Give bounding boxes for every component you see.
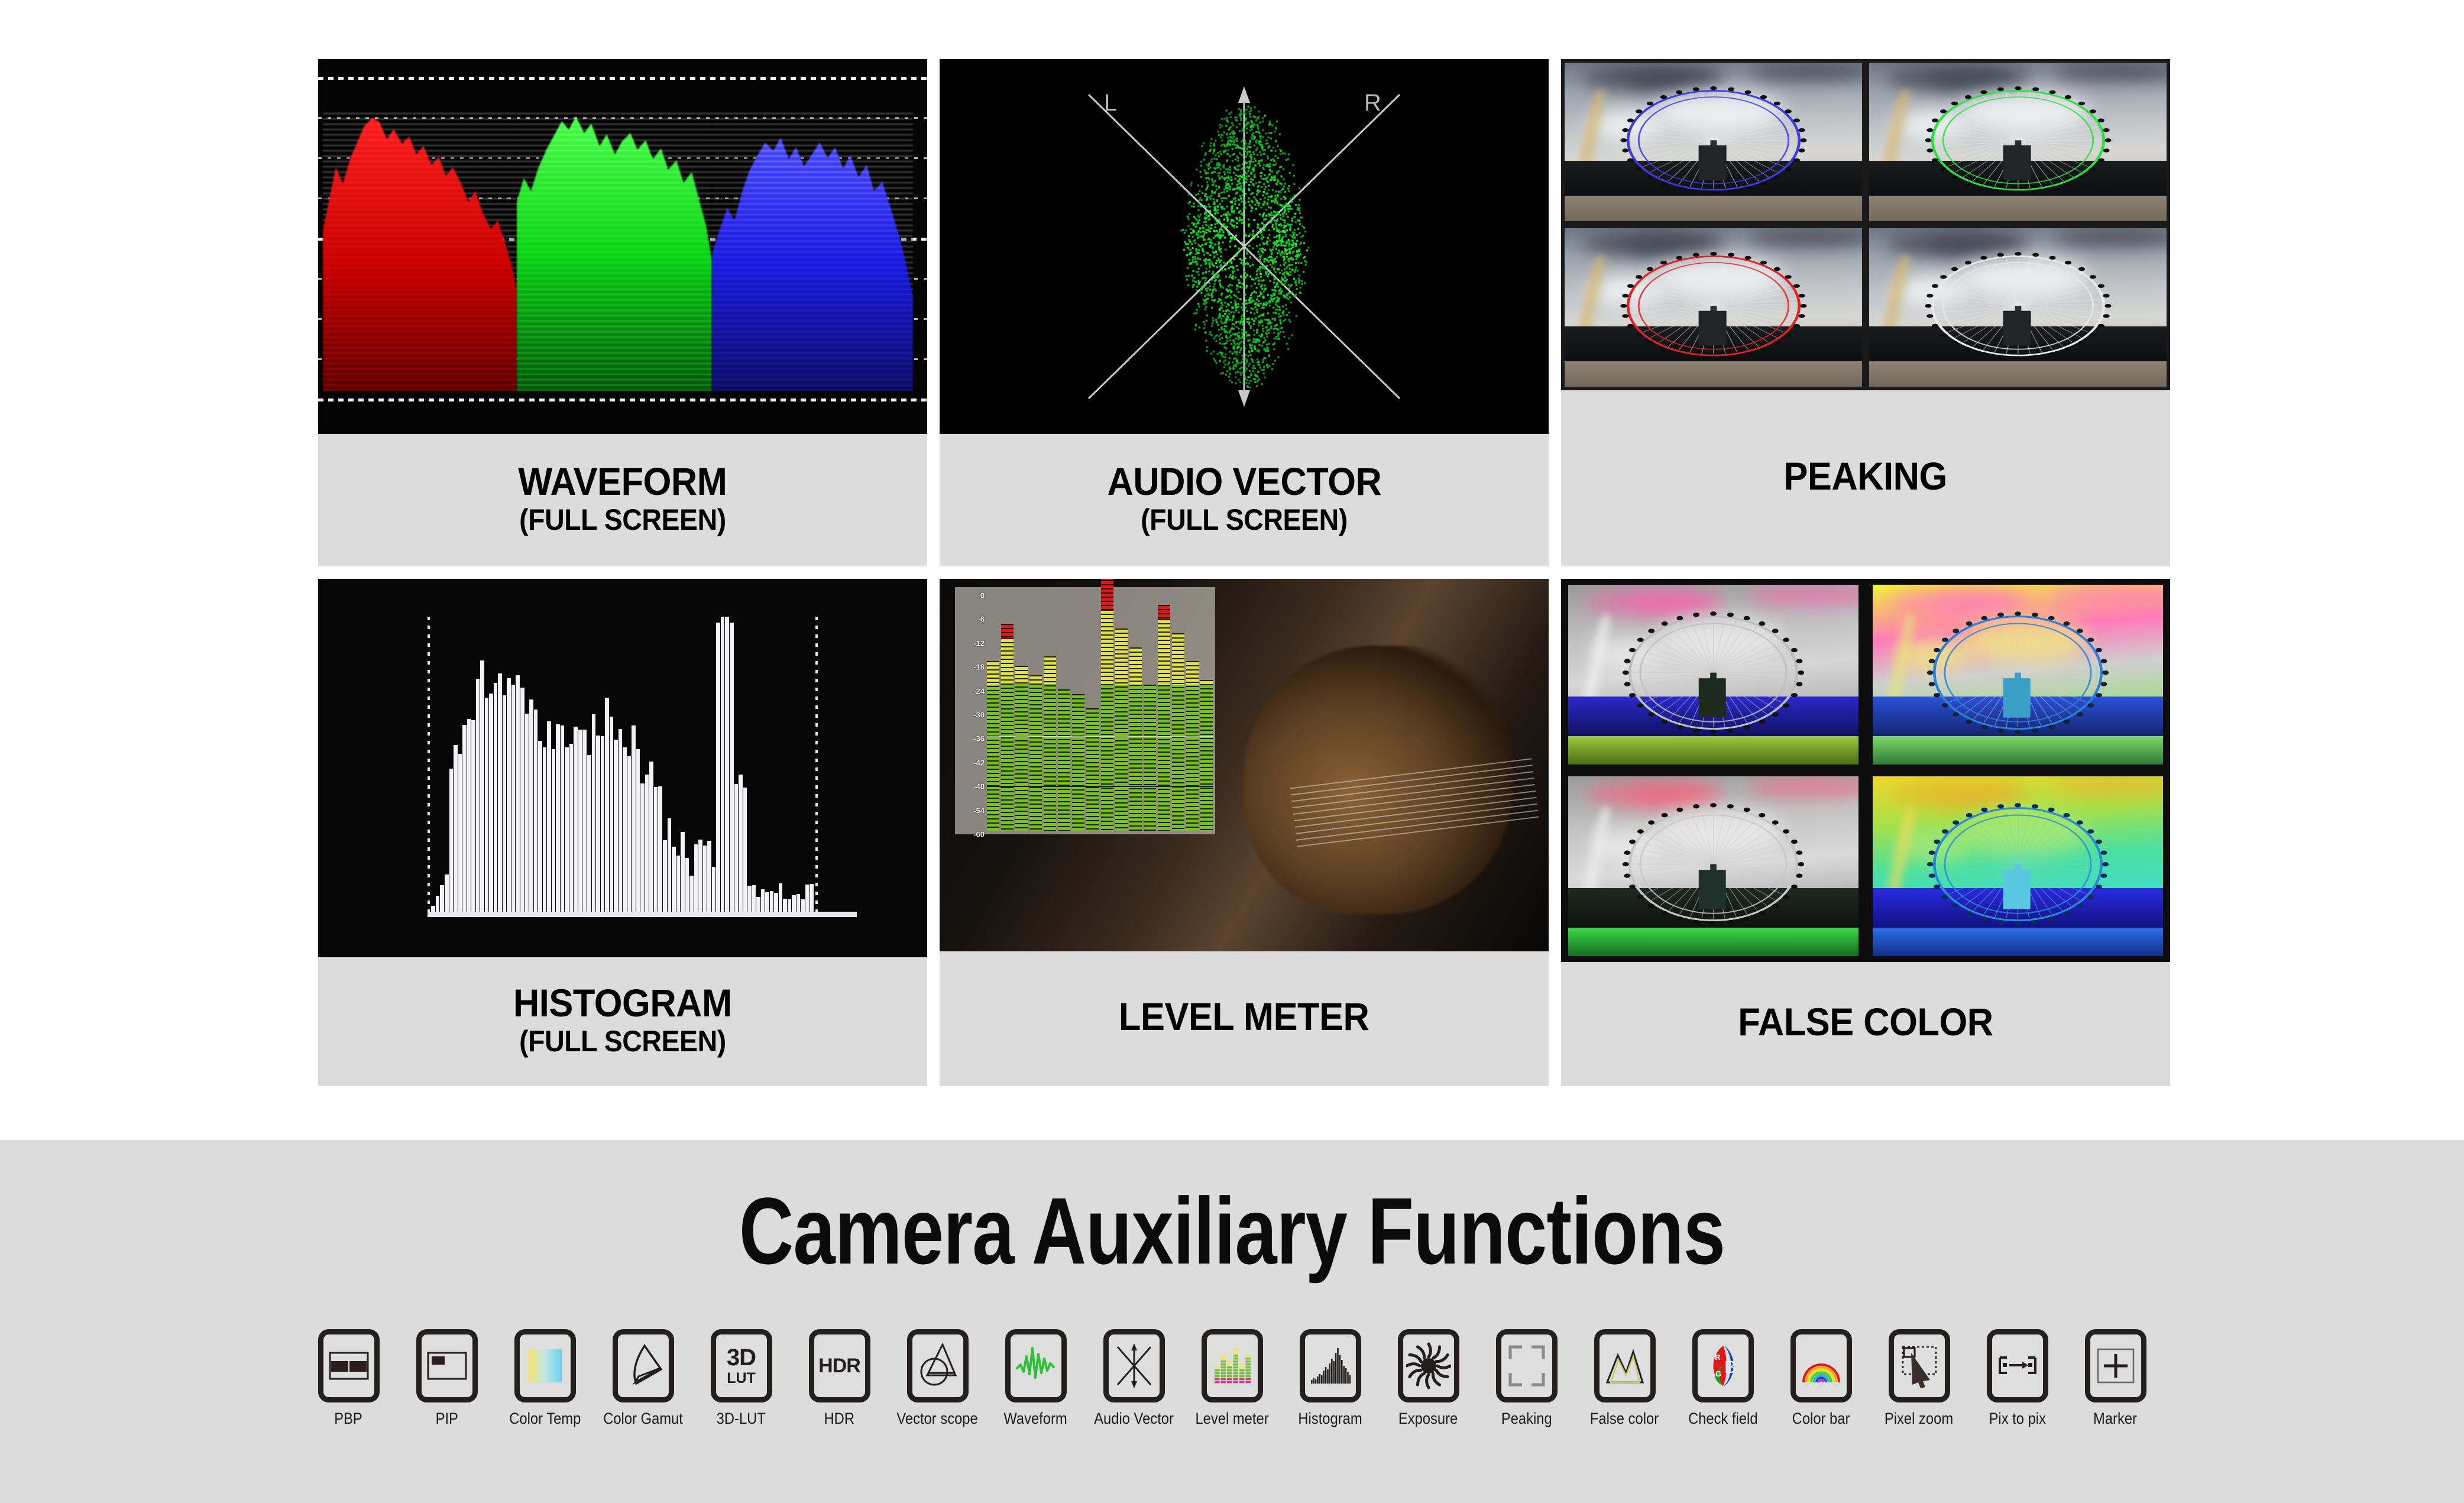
audio-vector-icon[interactable] <box>1103 1329 1165 1402</box>
level-meter-channel <box>1172 595 1184 831</box>
waveform-blue-channel <box>712 113 913 394</box>
function-icon-item-audio-vector[interactable]: Audio Vector <box>1093 1329 1176 1428</box>
audio-vector-subtitle: (FULL SCREEN) <box>1141 505 1348 535</box>
function-icon-label: Pixel zoom <box>1885 1410 1953 1428</box>
waveform-title: WAVEFORM <box>518 462 727 501</box>
level-meter-channel <box>987 595 999 831</box>
level-meter-scale-label: -42 <box>973 758 985 767</box>
level-meter-scale-label: -18 <box>973 663 985 672</box>
three-d-lut-glyph-top: 3D <box>727 1346 756 1369</box>
level-meter-channel <box>1029 595 1042 831</box>
feature-panel-waveform[interactable]: WAVEFORM (FULL SCREEN) <box>318 59 927 566</box>
false-color-quadrant-yellow-pink-blue <box>1873 585 2162 765</box>
audio-vector-caption: AUDIO VECTOR (FULL SCREEN) <box>940 434 1549 566</box>
level-meter-channel <box>1115 595 1128 831</box>
false-color-title: FALSE COLOR <box>1738 1002 1993 1042</box>
page-root: WAVEFORM (FULL SCREEN) L R <box>0 0 2464 1503</box>
exposure-icon[interactable] <box>1398 1329 1459 1402</box>
hdr-icon[interactable]: HDR <box>809 1329 870 1402</box>
function-icon-label: Exposure <box>1398 1410 1458 1428</box>
function-icon-item-waveform[interactable]: Waveform <box>995 1329 1077 1428</box>
vector-scope-icon[interactable] <box>907 1329 969 1402</box>
pip-icon[interactable] <box>416 1329 478 1402</box>
function-icon-item-marker[interactable]: Marker <box>2074 1329 2157 1428</box>
level-meter-scale-label: -54 <box>973 806 985 815</box>
function-icon-label: Waveform <box>1004 1410 1067 1428</box>
check-field-icon[interactable]: RGB <box>1692 1329 1754 1402</box>
waveform-caption: WAVEFORM (FULL SCREEN) <box>318 434 927 566</box>
pixel-zoom-icon[interactable] <box>1889 1329 1950 1402</box>
function-icon-row: PBPPIPColor TempColor Gamut3DLUT3D-LUTHD… <box>0 1329 2464 1471</box>
hdr-glyph: HDR <box>818 1355 860 1378</box>
level-meter-caption: LEVEL METER <box>940 951 1549 1086</box>
function-icon-label: Histogram <box>1298 1410 1362 1428</box>
function-icon-item-pix-to-pix[interactable]: Pix to pix <box>1976 1329 2059 1428</box>
function-icon-item-false-color[interactable]: False color <box>1584 1329 1666 1428</box>
peaking-quadrant-red <box>1565 228 1862 387</box>
level-meter-channel <box>1186 595 1199 831</box>
function-icon-label: Pix to pix <box>1989 1410 2045 1428</box>
waveform-green-channel <box>517 113 712 394</box>
level-meter-scale-label: 0 <box>980 591 985 600</box>
function-icon-item-3d-lut[interactable]: 3DLUT3D-LUT <box>700 1329 783 1428</box>
function-icon-item-color-temp[interactable]: Color Temp <box>504 1329 587 1428</box>
function-icon-label: False color <box>1590 1410 1659 1428</box>
histogram-caption: HISTOGRAM (FULL SCREEN) <box>318 957 927 1086</box>
function-icon-label: HDR <box>824 1410 854 1428</box>
level-meter-channel <box>1101 595 1113 831</box>
ferris-wheel-photo <box>1565 63 1862 222</box>
ferris-wheel-photo <box>1568 776 1858 957</box>
level-meter-scale-label: -36 <box>973 734 985 743</box>
marker-icon[interactable] <box>2085 1329 2146 1402</box>
level-meter-scale-label: -12 <box>973 639 985 647</box>
function-icon-label: Check field <box>1688 1410 1758 1428</box>
ferris-wheel-photo <box>1869 228 2167 387</box>
waveform-subtitle: (FULL SCREEN) <box>519 505 726 535</box>
peaking-caption: PEAKING <box>1561 390 2170 566</box>
waveform-red-channel <box>323 113 517 394</box>
histogram-plot-area <box>428 617 817 912</box>
audio-vector-label-right: R <box>1364 90 1381 116</box>
ferris-wheel-photo <box>1869 63 2167 222</box>
svg-text:R: R <box>1715 1353 1721 1362</box>
level-meter-overlay: 0-6-12-18-24-30-36-42-48-54-60 <box>955 587 1215 834</box>
level-meter-title: LEVEL METER <box>1119 997 1369 1036</box>
function-icon-item-color-gamut[interactable]: Color Gamut <box>602 1329 685 1428</box>
function-icon-item-hdr[interactable]: HDRHDR <box>798 1329 881 1428</box>
level-meter-scale-label: -24 <box>973 686 985 695</box>
svg-text:G: G <box>1715 1369 1721 1378</box>
color-gamut-icon[interactable] <box>613 1329 674 1402</box>
false-color-quadrant-thermal-green-blue <box>1873 776 2162 957</box>
level-meter-scale-label: -30 <box>973 711 985 720</box>
histogram-icon[interactable] <box>1300 1329 1361 1402</box>
function-icon-item-exposure[interactable]: Exposure <box>1387 1329 1470 1428</box>
function-icon-item-color-bar[interactable]: Color bar <box>1780 1329 1863 1428</box>
level-meter-icon[interactable] <box>1202 1329 1263 1402</box>
three-d-lut-icon[interactable]: 3DLUT <box>711 1329 772 1402</box>
ferris-wheel-photo <box>1565 228 1862 387</box>
function-icon-item-pixel-zoom[interactable]: Pixel zoom <box>1878 1329 1961 1428</box>
color-bar-icon[interactable] <box>1790 1329 1852 1402</box>
peaking-quad-image <box>1561 59 2170 390</box>
function-icon-label: Color bar <box>1792 1410 1850 1428</box>
peaking-icon[interactable] <box>1496 1329 1558 1402</box>
function-icon-label: 3D-LUT <box>717 1410 766 1428</box>
function-icon-item-pbp[interactable]: PBP <box>307 1329 390 1428</box>
function-icon-label: Color Temp <box>509 1410 581 1428</box>
histogram-subtitle: (FULL SCREEN) <box>519 1026 726 1057</box>
function-icon-label: Audio Vector <box>1094 1410 1174 1428</box>
level-meter-channel <box>1144 595 1156 831</box>
function-icon-item-histogram[interactable]: Histogram <box>1289 1329 1372 1428</box>
ferris-wheel-photo <box>1568 585 1858 765</box>
level-meter-channel <box>1044 595 1056 831</box>
function-icon-label: Color Gamut <box>603 1410 683 1428</box>
audio-vectorscope-image: L R <box>940 59 1549 434</box>
feature-panel-peaking[interactable]: PEAKING <box>1561 59 2170 566</box>
audio-vector-title: AUDIO VECTOR <box>1107 462 1381 501</box>
function-icon-label: Level meter <box>1195 1410 1268 1428</box>
ferris-wheel-photo <box>1873 585 2162 765</box>
waveform-scope-image <box>318 59 927 434</box>
bottom-band: Camera Auxiliary Functions PBPPIPColor T… <box>0 1140 2464 1503</box>
level-meter-channel <box>1086 595 1099 831</box>
function-icon-item-vector-scope[interactable]: Vector scope <box>896 1329 979 1428</box>
level-meter-bars <box>987 595 1213 831</box>
false-color-icon[interactable] <box>1594 1329 1656 1402</box>
waveform-icon[interactable] <box>1005 1329 1067 1402</box>
function-icon-item-level-meter[interactable]: Level meter <box>1191 1329 1274 1428</box>
histogram-image <box>318 579 927 957</box>
level-meter-channel <box>1072 595 1084 831</box>
feature-panel-histogram[interactable]: HISTOGRAM (FULL SCREEN) <box>318 579 927 1086</box>
level-meter-scale-label: -60 <box>973 830 985 839</box>
histogram-title: HISTOGRAM <box>513 983 732 1023</box>
svg-text:B: B <box>1724 1358 1736 1377</box>
function-icon-label: PBP <box>335 1410 363 1428</box>
function-icon-label: PIP <box>435 1410 458 1428</box>
level-meter-channel <box>1158 595 1170 831</box>
level-meter-scale-label: -6 <box>977 615 985 624</box>
pix-to-pix-icon[interactable] <box>1987 1329 2048 1402</box>
feature-grid: WAVEFORM (FULL SCREEN) L R <box>318 59 2145 1086</box>
level-meter-channel <box>1001 595 1014 831</box>
level-meter-image: 0-6-12-18-24-30-36-42-48-54-60 <box>940 579 1549 951</box>
function-icon-label: Marker <box>2094 1410 2138 1428</box>
peaking-quadrant-white <box>1869 228 2167 387</box>
three-d-lut-glyph-bottom: LUT <box>727 1371 756 1386</box>
feature-panel-false-color[interactable]: FALSE COLOR <box>1561 579 2170 1086</box>
level-meter-channel <box>1200 595 1213 831</box>
function-icon-item-pip[interactable]: PIP <box>406 1329 488 1428</box>
pbp-icon[interactable] <box>318 1329 380 1402</box>
false-color-quadrant-gray-pink-green-alt <box>1568 776 1858 957</box>
color-temp-icon[interactable] <box>514 1329 576 1402</box>
false-color-quad-image <box>1561 579 2170 962</box>
function-icon-label: Peaking <box>1501 1410 1552 1428</box>
ferris-wheel-photo <box>1873 776 2162 957</box>
peaking-quadrant-blue <box>1565 63 1862 222</box>
level-meter-channel <box>1058 595 1070 831</box>
level-meter-channel <box>1015 595 1028 831</box>
function-icon-item-check-field[interactable]: RGBCheck field <box>1682 1329 1764 1428</box>
false-color-quadrant-gray-pink-green <box>1568 585 1858 765</box>
audio-vector-label-left: L <box>1104 90 1117 116</box>
false-color-caption: FALSE COLOR <box>1561 962 2170 1086</box>
function-icon-label: Vector scope <box>897 1410 978 1428</box>
function-icon-item-peaking[interactable]: Peaking <box>1485 1329 1568 1428</box>
level-meter-scale-label: -48 <box>973 782 985 791</box>
peaking-title: PEAKING <box>1784 456 1947 496</box>
feature-panel-audio-vector[interactable]: L R AUDIO VECTOR (FULL SCREEN) <box>940 59 1549 566</box>
level-meter-channel <box>1129 595 1142 831</box>
peaking-quadrant-green <box>1869 63 2167 222</box>
page-title: Camera Auxiliary Functions <box>247 1177 2218 1285</box>
feature-panel-level-meter[interactable]: 0-6-12-18-24-30-36-42-48-54-60 LEVEL MET… <box>940 579 1549 1086</box>
level-meter-scale: 0-6-12-18-24-30-36-42-48-54-60 <box>955 595 986 834</box>
